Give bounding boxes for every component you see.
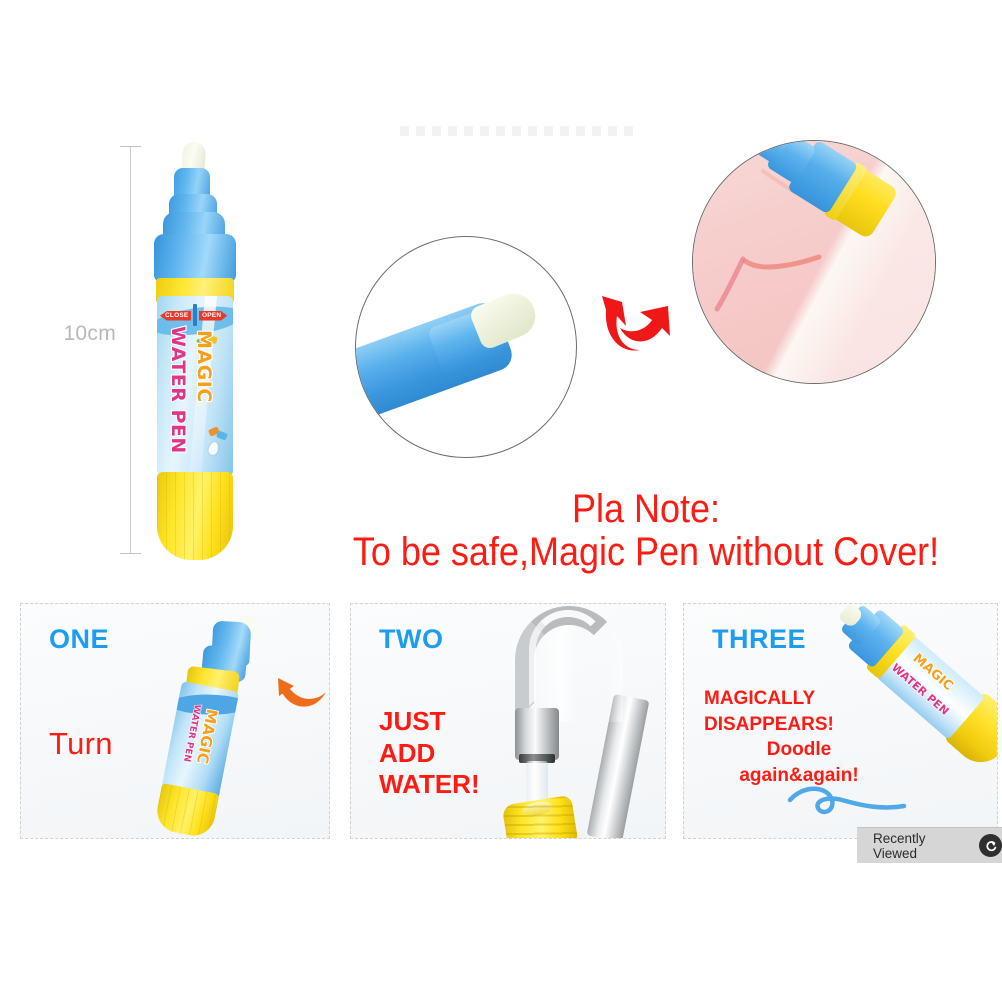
pen-base [157, 472, 233, 560]
dimension-label: 10cm [30, 322, 116, 346]
step-one-number: ONE [49, 624, 109, 655]
step-one-base-ribs [154, 783, 220, 839]
step-three-number: THREE [712, 624, 806, 655]
recently-viewed-tab[interactable]: Recently Viewed [857, 827, 1002, 863]
pen-base-ribs [157, 472, 233, 560]
step-one-pen: MAGIC WATER PEN [147, 607, 282, 837]
step-two-barrel-ribs [502, 795, 579, 839]
faucet-illustration [479, 604, 666, 839]
note-heading: Pla Note: [331, 488, 961, 530]
step-two-line-3: WATER! [379, 769, 480, 801]
faint-watermark [400, 126, 640, 136]
dimension-cap-top [120, 146, 141, 147]
nib-closeup-circle [355, 236, 577, 458]
step-one-body: Turn [49, 726, 113, 762]
step-panel-one: ONE Turn MAGIC WATER PEN [20, 603, 330, 839]
pen-collar [154, 234, 236, 282]
step-panel-three: THREE MAGICALLY DISAPPEARS! Doodle again… [683, 603, 998, 839]
step-panel-two: TWO JUST ADD WATER! [350, 603, 666, 839]
step-two-line-1: JUST [379, 706, 480, 738]
doodle-squiggle [784, 780, 914, 828]
step-two-body: JUST ADD WATER! [379, 706, 480, 801]
red-arrow-icon [600, 292, 680, 368]
dimension-cap-bottom [120, 553, 141, 554]
step-one-pen-base [154, 783, 220, 839]
hero-section: 10cm CLOSE OPEN MAGIC WATER PEN [0, 0, 1002, 592]
brand-text-group: MAGIC WATER PEN [157, 296, 233, 476]
step-two-number: TWO [379, 624, 443, 655]
brand-magic: MAGIC [193, 330, 215, 403]
pen-body-label: CLOSE OPEN MAGIC WATER PEN [157, 296, 233, 476]
turn-arrow-icon [276, 676, 330, 718]
safety-note: Pla Note: To be safe,Magic Pen without C… [296, 488, 996, 575]
faucet-arm-highlight [529, 610, 607, 706]
step-two-line-2: ADD [379, 738, 480, 770]
step-two-pen-barrel [502, 795, 579, 839]
brand-water-pen: WATER PEN [167, 326, 189, 454]
note-text: To be safe,Magic Pen without Cover! [331, 530, 961, 575]
circle-arrow-icon[interactable] [979, 834, 1002, 857]
product-pen-main: CLOSE OPEN MAGIC WATER PEN [148, 142, 258, 560]
faucet-neck [515, 708, 559, 760]
step-one-body-label: MAGIC WATER PEN [161, 681, 239, 800]
drawing-demo-circle [692, 140, 936, 384]
dimension-line [130, 146, 131, 554]
recently-viewed-label: Recently Viewed [873, 831, 971, 861]
